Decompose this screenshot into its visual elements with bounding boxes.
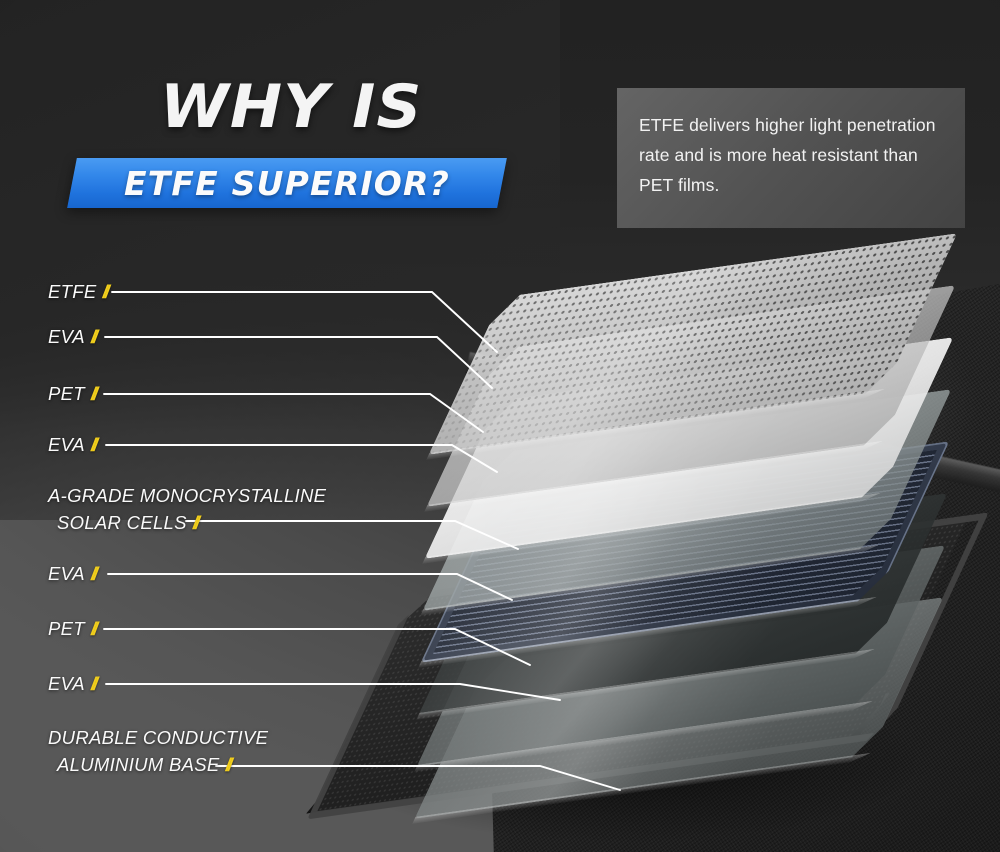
label-eva-3: EVA//: [48, 563, 95, 585]
label-solar-cells: A-GRADE MONOCRYSTALLINE SOLAR CELLS//: [48, 483, 326, 537]
infographic-stage: WHY IS ETFE SUPERIOR? ETFE delivers high…: [0, 0, 1000, 852]
label-etfe-text: ETFE: [48, 281, 96, 302]
label-pet-1-text: PET: [48, 383, 85, 404]
slash-mark-icon: //: [85, 326, 95, 347]
slash-mark-icon: //: [220, 754, 230, 775]
label-pet-1: PET//: [48, 383, 95, 405]
label-eva-2-text: EVA: [48, 434, 85, 455]
label-eva-1: EVA//: [48, 326, 95, 348]
label-etfe: ETFE//: [48, 281, 107, 303]
label-eva-3-text: EVA: [48, 563, 85, 584]
slash-mark-icon: //: [85, 563, 95, 584]
layer-labels: ETFE// EVA// PET// EVA// A-GRADE MONOCRY…: [0, 0, 1000, 852]
label-eva-4-text: EVA: [48, 673, 85, 694]
slash-mark-icon: //: [187, 512, 197, 533]
label-pet-2: PET//: [48, 618, 95, 640]
slash-mark-icon: //: [85, 618, 95, 639]
label-eva-2: EVA//: [48, 434, 95, 456]
label-solar-cells-line2-wrap: SOLAR CELLS//: [48, 510, 326, 537]
label-solar-cells-line2: SOLAR CELLS: [57, 512, 187, 533]
slash-mark-icon: //: [85, 383, 95, 404]
label-eva-4: EVA//: [48, 673, 95, 695]
label-aluminium-base: DURABLE CONDUCTIVE ALUMINIUM BASE//: [48, 725, 268, 779]
label-aluminium-base-line2-wrap: ALUMINIUM BASE//: [48, 752, 268, 779]
slash-mark-icon: //: [85, 434, 95, 455]
label-aluminium-base-line1: DURABLE CONDUCTIVE: [48, 727, 268, 748]
slash-mark-icon: //: [96, 281, 106, 302]
label-eva-1-text: EVA: [48, 326, 85, 347]
label-aluminium-base-line2: ALUMINIUM BASE: [57, 754, 220, 775]
label-pet-2-text: PET: [48, 618, 85, 639]
label-solar-cells-line1: A-GRADE MONOCRYSTALLINE: [48, 485, 326, 506]
slash-mark-icon: //: [85, 673, 95, 694]
